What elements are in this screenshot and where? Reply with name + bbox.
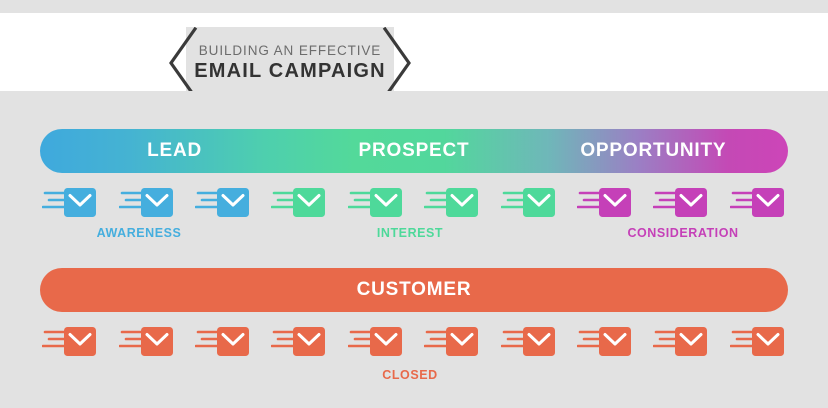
email-envelope-icon — [271, 186, 327, 220]
email-envelope-icon — [424, 186, 480, 220]
caption-interest: INTEREST — [280, 226, 540, 240]
header-title: EMAIL CAMPAIGN — [194, 60, 386, 83]
infographic-canvas: BUILDING AN EFFECTIVE EMAIL CAMPAIGN LEA… — [0, 0, 828, 408]
caption-consideration: CONSIDERATION — [553, 226, 813, 240]
email-envelope-icon — [424, 325, 480, 359]
email-envelope-icon — [348, 325, 404, 359]
email-envelope-icon — [119, 186, 175, 220]
email-envelope-icon — [501, 325, 557, 359]
stage-bar-label-opportunity: OPPORTUNITY — [543, 129, 763, 173]
email-envelope-icon — [653, 186, 709, 220]
email-envelope-icon — [42, 186, 98, 220]
email-envelope-icon — [42, 325, 98, 359]
header-title-block: BUILDING AN EFFECTIVE EMAIL CAMPAIGN — [186, 27, 394, 99]
email-envelope-icon — [730, 325, 786, 359]
stage-gradient-bar: LEADPROSPECTOPPORTUNITY — [40, 129, 788, 173]
email-envelope-icon — [653, 325, 709, 359]
header-banner: BUILDING AN EFFECTIVE EMAIL CAMPAIGN — [168, 27, 412, 99]
header-zone: BUILDING AN EFFECTIVE EMAIL CAMPAIGN — [0, 13, 828, 91]
stage-bar-label-lead: LEAD — [65, 129, 285, 173]
stage-bar-label-prospect: PROSPECT — [304, 129, 524, 173]
email-envelope-icon — [577, 186, 633, 220]
email-envelope-icon — [271, 325, 327, 359]
email-envelope-icon — [348, 186, 404, 220]
top-gray-band — [0, 0, 828, 13]
caption-awareness: AWARENESS — [9, 226, 269, 240]
email-envelope-icon — [501, 186, 557, 220]
email-envelope-icon — [195, 325, 251, 359]
header-subtitle: BUILDING AN EFFECTIVE — [199, 43, 381, 58]
top-envelope-row — [0, 186, 828, 220]
email-envelope-icon — [119, 325, 175, 359]
customer-stage-bar: CUSTOMER — [40, 268, 788, 312]
email-envelope-icon — [730, 186, 786, 220]
bottom-envelope-row — [0, 325, 828, 359]
customer-bar-label: CUSTOMER — [304, 268, 524, 312]
caption-closed: CLOSED — [280, 368, 540, 382]
email-envelope-icon — [195, 186, 251, 220]
email-envelope-icon — [577, 325, 633, 359]
